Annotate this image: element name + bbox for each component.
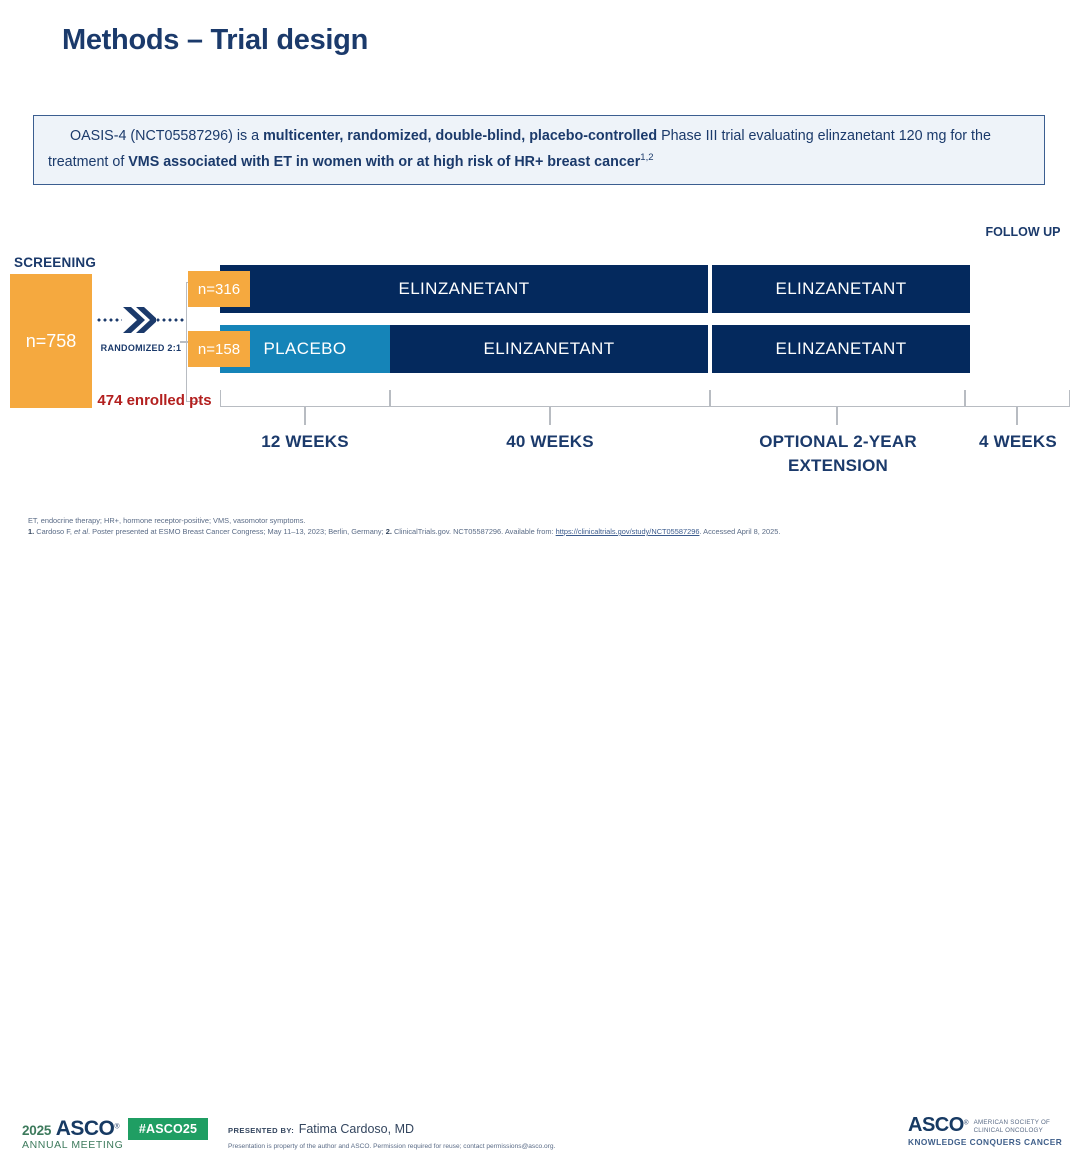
timeline-label-3: OPTIONAL 2-YEAR EXTENSION	[714, 430, 962, 478]
timeline-span-2	[390, 390, 710, 407]
asco-logo-top-line: 2025 ASCO®	[22, 1118, 123, 1139]
timeline-span-1	[220, 390, 390, 407]
statement-bold-2: VMS associated with ET in women with or …	[128, 154, 640, 170]
asco-society-logo: ASCO®AMERICAN SOCIETY OFCLINICAL ONCOLOG…	[908, 1115, 1062, 1146]
timeline-tick-2	[549, 407, 551, 425]
arm-b-count-tag: n=158	[188, 331, 250, 367]
screening-label: SCREENING	[14, 255, 96, 270]
references-footnote: 1. Cardoso F, et al. Poster presented at…	[28, 527, 1058, 538]
timeline-tick-1	[304, 407, 306, 425]
registered-mark-right: ®	[964, 1120, 969, 1127]
asco-wordmark: ASCO	[56, 1117, 115, 1140]
asco-annual-meeting-logo: 2025 ASCO® ANNUAL MEETING	[22, 1118, 123, 1151]
dotted-line-right	[155, 318, 187, 322]
asco-wordmark-right: ASCO	[908, 1114, 964, 1136]
page-title: Methods – Trial design	[62, 24, 368, 57]
followup-label: FOLLOW UP	[978, 225, 1068, 240]
segment-elinzanetant-extension: ELINZANETANT	[712, 265, 970, 313]
timeline-tick-4	[1016, 407, 1018, 425]
study-timeline: 12 WEEKS 40 WEEKS OPTIONAL 2-YEAR EXTENS…	[0, 390, 1080, 515]
ref2-tail: . Accessed April 8, 2025.	[699, 527, 780, 536]
timeline-span-4	[965, 390, 1070, 407]
arm-a-count: n=316	[198, 281, 240, 298]
segment-label: ELINZANETANT	[398, 279, 529, 299]
trial-description-box: OASIS-4 (NCT05587296) is a multicenter, …	[33, 115, 1045, 185]
segment-label: ELINZANETANT	[775, 279, 906, 299]
annual-meeting-text: ANNUAL MEETING	[22, 1140, 123, 1151]
randomization-bracket-stub	[180, 341, 188, 343]
segment-label: ELINZANETANT	[483, 339, 614, 359]
asco-society-top-line: ASCO®AMERICAN SOCIETY OFCLINICAL ONCOLOG…	[908, 1115, 1062, 1135]
screening-count: n=758	[26, 331, 77, 352]
clinicaltrials-link[interactable]: https://clinicaltrials.gov/study/NCT0558…	[556, 527, 700, 536]
society-name: AMERICAN SOCIETY OFCLINICAL ONCOLOGY	[974, 1119, 1051, 1135]
timeline-label-4: 4 WEEKS	[962, 430, 1074, 454]
ref1-etal: et al	[74, 527, 88, 536]
segment-label: ELINZANETANT	[775, 339, 906, 359]
timeline-tick-3	[836, 407, 838, 425]
presenter-line: PRESENTED BY: Fatima Cardoso, MD	[228, 1120, 555, 1138]
timeline-span-3	[710, 390, 965, 407]
presenter-name: Fatima Cardoso, MD	[299, 1122, 414, 1136]
screening-box: n=758	[10, 274, 92, 408]
permission-text: Presentation is property of the author a…	[228, 1143, 555, 1150]
presenter-block: PRESENTED BY: Fatima Cardoso, MD Present…	[228, 1120, 555, 1150]
slide-root: Methods – Trial design OASIS-4 (NCT05587…	[0, 0, 1080, 608]
statement-part-1: OASIS-4 (NCT05587296) is a	[70, 128, 263, 144]
timeline-label-1: 12 WEEKS	[224, 430, 386, 454]
timeline-label-2: 40 WEEKS	[394, 430, 706, 454]
randomization-label: RANDOMIZED 2:1	[98, 342, 184, 354]
arm-b-count: n=158	[198, 341, 240, 358]
segment-label: PLACEBO	[263, 339, 346, 359]
meeting-year: 2025	[22, 1123, 51, 1138]
society-line-1: AMERICAN SOCIETY OF	[974, 1119, 1051, 1126]
dotted-line-left	[96, 318, 122, 322]
trial-design-diagram: SCREENING FOLLOW UP n=758 RANDOMIZED 2:1…	[0, 225, 1080, 515]
ref2-text: ClinicalTrials.gov. NCT05587296. Availab…	[392, 527, 556, 536]
ref1-author: Cardoso F,	[36, 527, 72, 536]
statement-bold-1: multicenter, randomized, double-blind, p…	[263, 128, 657, 144]
segment-elinzanetant-extension-b: ELINZANETANT	[712, 325, 970, 373]
ref1-rest: . Poster presented at ESMO Breast Cancer…	[88, 527, 386, 536]
presented-by-label: PRESENTED BY:	[228, 1126, 294, 1135]
hashtag-badge: #ASCO25	[128, 1118, 208, 1140]
double-chevron-icon	[120, 303, 156, 337]
statement-superscript: 1,2	[640, 152, 653, 163]
arm-a-count-tag: n=316	[188, 271, 250, 307]
registered-mark: ®	[114, 1124, 119, 1131]
abbreviations-footnote: ET, endocrine therapy; HR+, hormone rece…	[28, 516, 1058, 527]
segment-elinzanetant-main: ELINZANETANT	[220, 265, 708, 313]
ref1-number: 1.	[28, 527, 34, 536]
slide-footer: 2025 ASCO® ANNUAL MEETING #ASCO25 PRESEN…	[0, 552, 1080, 608]
segment-elinzanetant-crossover: ELINZANETANT	[390, 325, 708, 373]
society-line-2: CLINICAL ONCOLOGY	[974, 1127, 1043, 1134]
asco-tagline: KNOWLEDGE CONQUERS CANCER	[908, 1138, 1062, 1146]
